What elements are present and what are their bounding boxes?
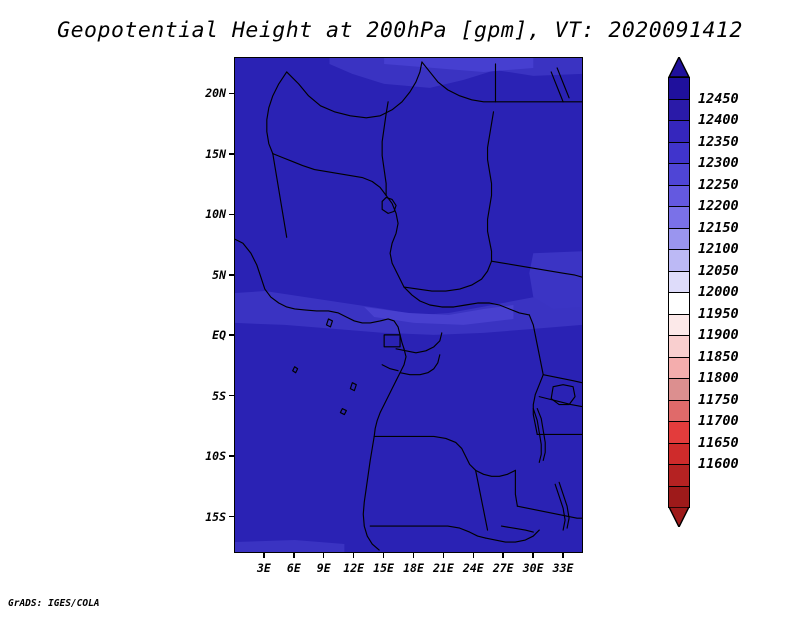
colorbar-tick-label: 11850	[698, 349, 739, 365]
colorbar-swatch	[668, 357, 690, 380]
colorbar-tick-label: 11950	[698, 306, 739, 322]
colorbar-swatch	[668, 228, 690, 251]
colorbar-swatch	[668, 120, 690, 143]
x-axis-label: 6E	[287, 561, 301, 575]
x-axis-label: 33E	[553, 561, 574, 575]
colorbar-swatch	[668, 421, 690, 444]
colorbar-swatch	[668, 335, 690, 358]
x-axis-tick	[293, 553, 295, 558]
colorbar-swatch	[668, 99, 690, 122]
colorbar-swatch	[668, 314, 690, 337]
x-axis-label: 9E	[317, 561, 331, 575]
y-axis-label: EQ	[186, 328, 226, 342]
colorbar-swatch	[668, 249, 690, 272]
colorbar-tick-label: 12100	[698, 241, 739, 257]
x-axis-label: 18E	[403, 561, 424, 575]
x-axis-label: 24E	[463, 561, 484, 575]
x-axis-tick	[263, 553, 265, 558]
colorbar-tick-label: 12350	[698, 134, 739, 150]
colorbar-arrow-top	[668, 57, 690, 77]
map-canvas	[235, 58, 582, 552]
x-axis-label: 27E	[493, 561, 514, 575]
x-axis-tick	[443, 553, 445, 558]
colorbar-tick-label: 11600	[698, 456, 739, 472]
colorbar-tick-label: 11750	[698, 392, 739, 408]
y-axis-tick	[229, 274, 234, 276]
y-axis-tick	[229, 214, 234, 216]
colorbar-tick-label: 11800	[698, 370, 739, 386]
colorbar-tick-label: 12450	[698, 91, 739, 107]
x-axis-label: 21E	[433, 561, 454, 575]
colorbar-swatch	[668, 163, 690, 186]
y-axis-tick	[229, 516, 234, 518]
x-axis-tick	[473, 553, 475, 558]
colorbar-swatch	[668, 77, 690, 100]
colorbar-swatch	[668, 142, 690, 165]
x-axis-tick	[383, 553, 385, 558]
colorbar-swatch	[668, 400, 690, 423]
attribution-footer: GrADS: IGES/COLA	[8, 598, 100, 609]
page-title: Geopotential Height at 200hPa [gpm], VT:…	[0, 18, 800, 43]
x-axis-label: 12E	[343, 561, 364, 575]
y-axis-label: 5N	[186, 268, 226, 282]
colorbar-swatch	[668, 185, 690, 208]
colorbar-tick-label: 12400	[698, 112, 739, 128]
colorbar-arrow-bottom	[668, 507, 690, 527]
y-axis-label: 15S	[186, 510, 226, 524]
y-axis-label: 20N	[186, 86, 226, 100]
map-plot-area	[234, 57, 583, 553]
y-axis-tick	[229, 153, 234, 155]
colorbar-swatch	[668, 292, 690, 315]
colorbar-tick-label: 11900	[698, 327, 739, 343]
y-axis-tick	[229, 93, 234, 95]
colorbar-tick-label: 11650	[698, 435, 739, 451]
colorbar-tick-label: 12050	[698, 263, 739, 279]
x-axis-tick	[413, 553, 415, 558]
colorbar-tick-label: 12150	[698, 220, 739, 236]
y-axis-label: 10N	[186, 207, 226, 221]
colorbar-swatch	[668, 443, 690, 466]
y-axis-label: 5S	[186, 389, 226, 403]
colorbar-tick-label: 12000	[698, 284, 739, 300]
colorbar-tick-label: 12250	[698, 177, 739, 193]
colorbar-swatch	[668, 486, 690, 509]
x-axis-label: 3E	[257, 561, 271, 575]
x-axis-tick	[502, 553, 504, 558]
x-axis-label: 15E	[373, 561, 394, 575]
x-axis-tick	[353, 553, 355, 558]
y-axis-label: 10S	[186, 449, 226, 463]
y-axis-tick	[229, 334, 234, 336]
colorbar-tick-label: 12200	[698, 198, 739, 214]
y-axis-tick	[229, 455, 234, 457]
colorbar-swatch	[668, 464, 690, 487]
x-axis-tick	[323, 553, 325, 558]
colorbar-tick-label: 11700	[698, 413, 739, 429]
x-axis-tick	[532, 553, 534, 558]
x-axis-tick	[562, 553, 564, 558]
colorbar	[668, 57, 690, 527]
colorbar-swatch	[668, 271, 690, 294]
x-axis-label: 30E	[523, 561, 544, 575]
y-axis-tick	[229, 395, 234, 397]
colorbar-swatch	[668, 378, 690, 401]
colorbar-swatch	[668, 206, 690, 229]
colorbar-tick-label: 12300	[698, 155, 739, 171]
y-axis-label: 15N	[186, 147, 226, 161]
